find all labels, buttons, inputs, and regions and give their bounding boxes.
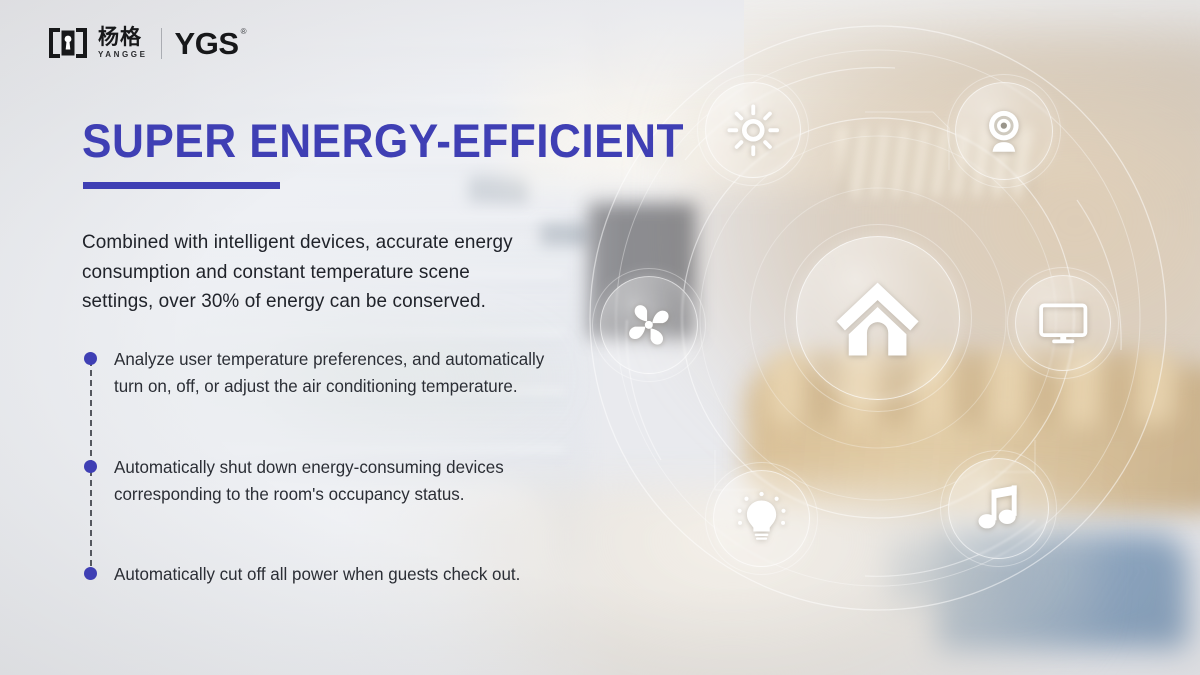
music-note-icon (970, 480, 1027, 537)
list-item-text: Automatically cut off all power when gue… (114, 561, 520, 588)
bracket-keyhole-icon (47, 26, 89, 60)
hub-node-television[interactable] (1015, 275, 1111, 371)
home-icon (829, 269, 926, 366)
lead-paragraph: Combined with intelligent devices, accur… (82, 228, 538, 317)
registered-trademark-icon: ® (241, 27, 247, 36)
bullet-dot-icon (84, 460, 97, 473)
logo-ygs-text: YGS (175, 26, 239, 61)
hub-center-node[interactable] (796, 236, 960, 400)
list-item: Analyze user temperature preferences, an… (82, 346, 582, 400)
hub-node-lighting-brightness[interactable] (705, 82, 801, 178)
hub-node-smart-lighting[interactable] (713, 470, 810, 567)
logo-ygs-wordmark: YGS ® (175, 28, 239, 59)
bullet-dot-icon (84, 352, 97, 365)
fan-icon (621, 297, 677, 353)
logo-cn-characters: 杨格 (98, 27, 142, 48)
logo-divider (161, 28, 162, 59)
hub-node-security-camera[interactable] (955, 82, 1053, 180)
logo-pinyin: YANGGE (98, 51, 148, 59)
hub-node-audio-system[interactable] (948, 458, 1049, 559)
bullet-dot-icon (84, 567, 97, 580)
page-title: SUPER ENERGY-EFFICIENT (82, 113, 684, 168)
bullet-list: Analyze user temperature preferences, an… (82, 340, 582, 588)
list-item-text: Analyze user temperature preferences, an… (114, 346, 568, 400)
hub-node-air-conditioning-fan[interactable] (600, 276, 698, 374)
slide-canvas: 杨格 YANGGE YGS ® SUPER ENERGY-EFFICIENT C… (0, 0, 1200, 675)
lightbulb-icon (734, 491, 789, 546)
monitor-icon (1036, 296, 1091, 351)
brand-logo: 杨格 YANGGE YGS ® (47, 26, 239, 60)
sun-brightness-icon (726, 103, 781, 158)
logo-mark: 杨格 YANGGE (47, 26, 148, 60)
list-item: Automatically cut off all power when gue… (82, 561, 582, 588)
list-item-text: Automatically shut down energy-consuming… (114, 454, 568, 508)
webcam-icon (976, 103, 1032, 159)
logo-chinese-name: 杨格 YANGGE (98, 27, 148, 59)
title-underline-bar (83, 182, 280, 189)
list-item: Automatically shut down energy-consuming… (82, 454, 582, 508)
